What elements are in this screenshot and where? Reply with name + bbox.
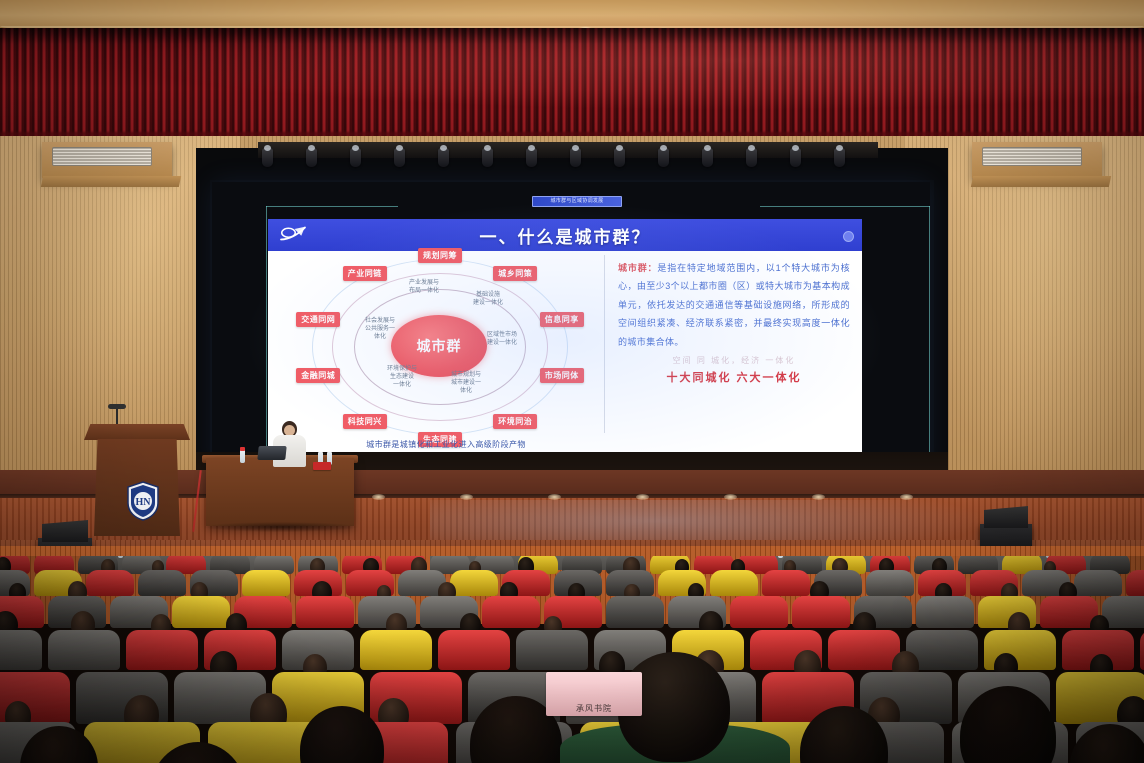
diagram-tag: 市场同体 xyxy=(540,368,584,383)
mini-window-title-text: 城市群与区域协调发展 xyxy=(533,197,621,206)
audience-seat xyxy=(866,570,914,596)
audience-seat xyxy=(86,570,134,596)
slide-divider xyxy=(604,255,605,433)
definition-panel: 城市群：是指在特定地域范围内，以1个特大城市为核心，由至少3个以上都市圈（区）或… xyxy=(612,255,856,453)
spotlight-icon xyxy=(658,148,669,167)
align-guide-left xyxy=(266,206,267,470)
vent-lip xyxy=(971,176,1111,187)
spotlight-icon xyxy=(306,148,317,167)
spotlight-icon xyxy=(702,148,713,167)
definition-highlight: 十大同城化 六大一体化 xyxy=(612,369,856,385)
audience-seat xyxy=(516,630,588,670)
spotlight-icon xyxy=(614,148,625,167)
slide-header: 一、什么是城市群？ xyxy=(268,219,862,251)
diagram-inner-label: 基础设施 建设一体化 xyxy=(458,291,518,307)
audience-seat xyxy=(360,630,432,670)
footlight-icon xyxy=(548,494,561,500)
footlight-icon xyxy=(812,494,825,500)
spotlight-icon xyxy=(350,148,361,167)
diagram-inner-label: 环境保护与 生态建设 一体化 xyxy=(372,365,432,389)
diagram-inner-label: 城市规划与 城市建设一 体化 xyxy=(436,371,496,395)
audience-seating: 承风书院 xyxy=(0,556,1144,763)
footlight-icon xyxy=(372,494,385,500)
slide-title: 一、什么是城市群？ xyxy=(268,219,862,251)
definition-body: 是指在特定地域范围内，以1个特大城市为核心，由至少3个以上都市圈（区）或特大城市… xyxy=(618,263,850,347)
diagram-tag: 金融同城 xyxy=(296,368,340,383)
water-bottle xyxy=(240,450,245,463)
spotlight-icon xyxy=(746,148,757,167)
audience-seat xyxy=(606,596,664,628)
diagram-inner-label: 产业发展与 布局一体化 xyxy=(394,279,454,295)
curtain-sheen xyxy=(0,0,1144,110)
footlight-icon xyxy=(636,494,649,500)
audience-seat xyxy=(242,570,290,596)
diagram-caption: 城市群是城镇化和工业化进入高级阶段产物 xyxy=(296,439,596,450)
audience-seat xyxy=(710,570,758,596)
audience-seat xyxy=(482,596,540,628)
diagram-tag: 规划同筹 xyxy=(418,248,462,263)
vent-lip xyxy=(41,176,181,187)
audience-seat xyxy=(828,630,900,670)
spotlight-icon xyxy=(834,148,845,167)
university-shield-emblem-icon: HN xyxy=(126,481,160,521)
podium-body: HN xyxy=(94,439,180,536)
diagram-tag: 环境同治 xyxy=(493,414,537,429)
audience-seat xyxy=(1074,570,1122,596)
ac-vent-right xyxy=(972,142,1102,178)
auditorium-scene: 城市群与区域协调发展 一、什么是城市群？ 城市群 规划同筹城乡同策信息同享市场同… xyxy=(0,0,1144,763)
audience-seat xyxy=(172,596,230,628)
spotlight-icon xyxy=(790,148,801,167)
audience-seat xyxy=(792,596,850,628)
audience-seat xyxy=(916,596,974,628)
audience-seat xyxy=(296,596,354,628)
speaker-nameplate xyxy=(313,462,331,470)
vent-grille-icon xyxy=(52,147,152,166)
audience-seat xyxy=(126,630,198,670)
diagram-tag: 产业同链 xyxy=(343,266,387,281)
city-cluster-diagram: 城市群 规划同筹城乡同策信息同享市场同体环境同治生态同建科技同兴金融同城交通同网… xyxy=(276,253,602,439)
audience-seat xyxy=(0,630,42,670)
spotlight-icon xyxy=(394,148,405,167)
podium: HN xyxy=(88,424,186,536)
audience-seat xyxy=(730,596,788,628)
audience-seat xyxy=(438,630,510,670)
audience-seat xyxy=(1140,630,1144,670)
spotlight-icon xyxy=(526,148,537,167)
curtain-top-shadow xyxy=(0,28,1144,44)
diagram-tag: 交通同网 xyxy=(296,312,340,327)
speaker-desk xyxy=(206,458,354,526)
slide-header-dot-icon xyxy=(843,231,854,242)
diagram-tag: 信息同享 xyxy=(540,312,584,327)
seat-placard: 承风书院 xyxy=(546,672,642,716)
audience-seat xyxy=(138,570,186,596)
projected-slide: 一、什么是城市群？ 城市群 规划同筹城乡同策信息同享市场同体环境同治生态同建科技… xyxy=(268,219,862,455)
footlight-icon xyxy=(900,494,913,500)
definition-faint-line: 空间 同 城化，经济 一体化 xyxy=(612,355,856,366)
align-guide-top-right xyxy=(760,206,930,207)
align-guide-top-left xyxy=(266,206,398,207)
slide-body: 城市群 规划同筹城乡同策信息同享市场同体环境同治生态同建科技同兴金融同城交通同网… xyxy=(268,251,862,455)
podium-mic-stand xyxy=(116,408,118,426)
align-guide-right xyxy=(929,206,930,470)
vent-grille-icon xyxy=(982,147,1082,166)
speaker-desk-shadow xyxy=(204,522,358,532)
spotlight-icon xyxy=(262,148,273,167)
definition-term: 城市群： xyxy=(618,263,657,273)
audience-seat xyxy=(762,570,810,596)
diagram-tag: 城乡同策 xyxy=(493,266,537,281)
footlight-icon xyxy=(724,494,737,500)
diagram-tag: 科技同兴 xyxy=(343,414,387,429)
podium-top xyxy=(84,424,190,440)
audience-seat xyxy=(1126,570,1144,596)
slide-mini-window-title: 城市群与区域协调发展 xyxy=(532,196,622,207)
audience-seat xyxy=(48,630,120,670)
spotlight-icon xyxy=(438,148,449,167)
definition-paragraph: 城市群：是指在特定地域范围内，以1个特大城市为核心，由至少3个以上都市圈（区）或… xyxy=(612,255,856,351)
spotlight-icon xyxy=(570,148,581,167)
speaker-laptop xyxy=(257,446,286,460)
audience-seat xyxy=(450,570,498,596)
ac-vent-left xyxy=(42,142,172,178)
footlight-icon xyxy=(460,494,473,500)
diagram-inner-label: 区域性市场 建设一体化 xyxy=(472,331,532,347)
podium-emblem-text: HN xyxy=(136,497,152,508)
microphone-icon xyxy=(108,404,126,409)
diagram-inner-label: 社会发展与 公共服务一 体化 xyxy=(350,317,410,341)
spotlight-icon xyxy=(482,148,493,167)
